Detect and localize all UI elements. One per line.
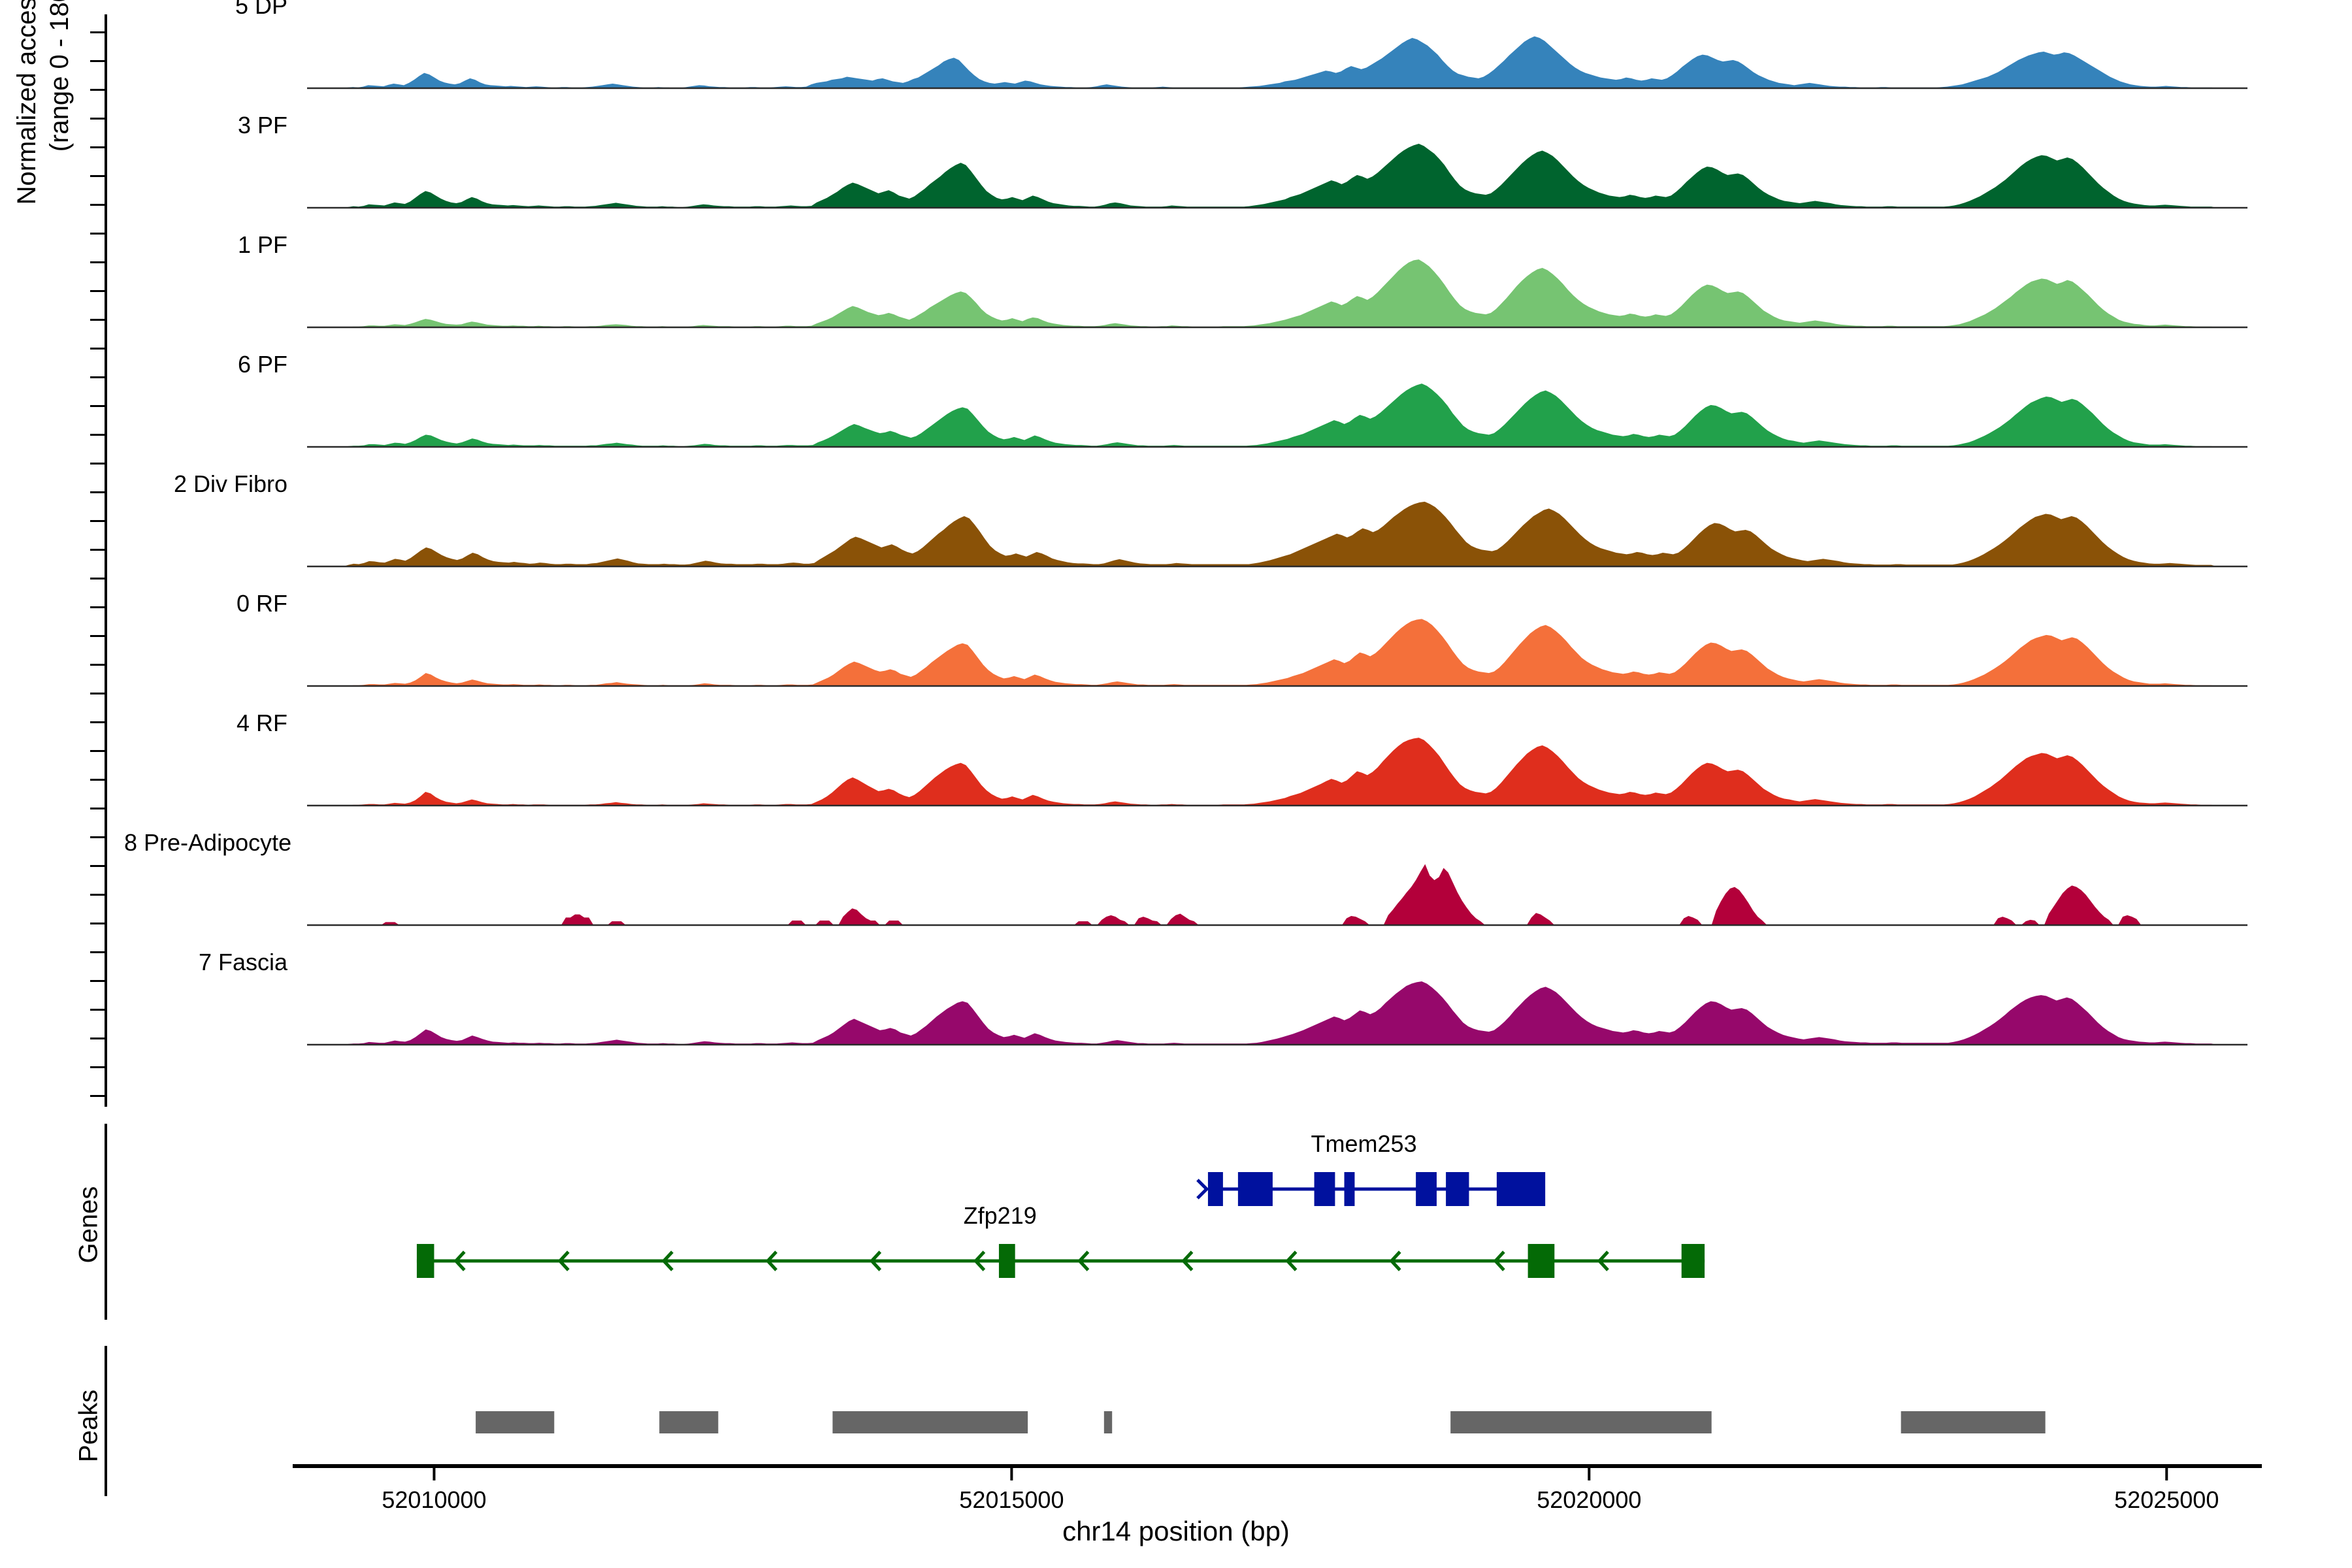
x-axis-title: chr14 position (bp) bbox=[0, 1516, 2352, 1547]
signal-area-1-pf bbox=[307, 259, 2247, 327]
peak-region bbox=[1901, 1411, 2046, 1433]
signal-area-4-rf bbox=[307, 738, 2247, 806]
gene-exon bbox=[1345, 1172, 1355, 1206]
genome-browser-figure: Normalized accessibility(range 0 - 180) … bbox=[0, 0, 2352, 1568]
gene-label-tmem253: Tmem253 bbox=[1311, 1130, 1417, 1158]
signal-area-3-pf bbox=[307, 144, 2247, 208]
gene-exon bbox=[1682, 1244, 1705, 1278]
signal-area-2-div-fibro bbox=[307, 502, 2247, 566]
signal-area-0-rf bbox=[307, 619, 2247, 686]
gene-label-zfp219: Zfp219 bbox=[964, 1202, 1037, 1230]
signal-area-5-dp bbox=[307, 37, 2247, 88]
x-tick-label: 52015000 bbox=[959, 1486, 1064, 1514]
gene-strand-arrow-right bbox=[1198, 1180, 1207, 1198]
x-tick-label: 52020000 bbox=[1537, 1486, 1641, 1514]
gene-exon bbox=[417, 1244, 434, 1278]
x-tick-label: 52025000 bbox=[2114, 1486, 2219, 1514]
gene-exon bbox=[1446, 1172, 1469, 1206]
gene-exon bbox=[1238, 1172, 1273, 1206]
gene-exon bbox=[1528, 1244, 1555, 1278]
gene-exon bbox=[1497, 1172, 1545, 1206]
gene-exon bbox=[1208, 1172, 1223, 1206]
signal-tracks bbox=[0, 0, 2352, 1111]
peak-region bbox=[832, 1411, 1028, 1433]
gene-tracks bbox=[0, 1124, 2352, 1320]
signal-area-6-pf bbox=[307, 384, 2247, 447]
gene-exon bbox=[1416, 1172, 1437, 1206]
signal-area-8-pre-adipocyte bbox=[307, 864, 2247, 925]
gene-exon bbox=[1315, 1172, 1335, 1206]
peak-region bbox=[1450, 1411, 1712, 1433]
signal-area-7-fascia bbox=[307, 981, 2247, 1045]
peak-region bbox=[659, 1411, 718, 1433]
x-axis bbox=[0, 1463, 2352, 1490]
peak-region bbox=[476, 1411, 554, 1433]
x-tick-label: 52010000 bbox=[382, 1486, 486, 1514]
peak-region bbox=[1104, 1411, 1112, 1433]
gene-exon bbox=[999, 1244, 1015, 1278]
